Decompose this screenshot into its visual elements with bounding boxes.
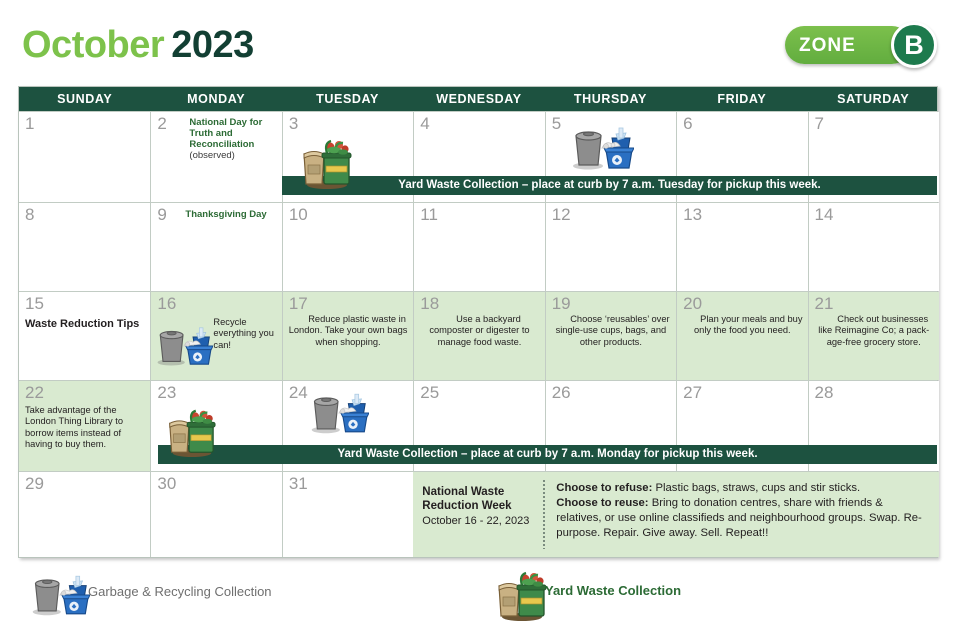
day-cell[interactable]: 18 Use a backyard composter or digester … [413,292,544,380]
weekday-monday: MONDAY [150,87,281,111]
day-number: 4 [420,114,429,134]
day-cell[interactable]: 19 Choose ‘reusables’ over single-use cu… [545,292,676,380]
weekday-thursday: THURSDAY [545,87,676,111]
day-cell[interactable]: 12 [545,203,676,291]
day-number: 11 [420,205,438,225]
day-cell[interactable]: 13 [676,203,807,291]
nwrw-dates: October 16 - 22, 2023 [422,514,537,529]
tip-text: Recycle everything you can! [213,317,277,351]
legend-item-garbage [28,568,90,627]
title-month: October [22,24,164,66]
day-number: 26 [552,383,571,403]
day-number: 27 [683,383,702,403]
day-number: 12 [552,205,571,225]
nwrw-body: Choose to refuse: Plastic bags, straws, … [551,472,939,557]
weekday-header-row: SUNDAY MONDAY TUESDAY WEDNESDAY THURSDAY… [19,87,937,111]
day-number: 14 [815,205,834,225]
day-cell[interactable]: 31 [282,472,413,557]
day-number: 28 [815,383,834,403]
tip-text: Check out businesses like Reimagine Co; … [813,314,935,348]
day-number: 5 [552,114,561,134]
zone-circle: B [891,22,937,68]
day-number: 6 [683,114,692,134]
day-number: 13 [683,205,702,225]
day-number: 22 [25,383,44,403]
zone-letter: B [894,25,934,65]
day-number: 16 [157,294,176,314]
day-number: 10 [289,205,308,225]
day-cell[interactable]: 9 Thanksgiving Day [150,203,281,291]
title-year: 2023 [171,24,254,66]
day-number: 23 [157,383,176,403]
tip-text: Plan your meals and buy only the food yo… [681,314,803,337]
calendar-grid: SUNDAY MONDAY TUESDAY WEDNESDAY THURSDAY… [18,86,938,558]
day-cell[interactable]: 16 Recycle everythi [150,292,281,380]
day-number: 9 [157,205,166,225]
day-number: 19 [552,294,571,314]
weekday-tuesday: TUESDAY [282,87,413,111]
yard-waste-icon [297,134,353,195]
day-cell[interactable]: 1 [19,112,150,202]
zone-label: ZONE [799,35,856,57]
nwrw-refuse-label: Choose to refuse: [556,482,652,494]
day-cell[interactable]: 30 [150,472,281,557]
tip-text: Choose ‘reusables’ over single-use cups,… [550,314,672,348]
garbage-recycling-icon [307,386,369,445]
weekday-friday: FRIDAY [676,87,807,111]
holiday-text: National Day for Truth and Reconciliatio… [189,117,262,150]
garbage-recycling-icon [153,320,213,377]
day-number: 20 [683,294,702,314]
national-waste-reduction-week-block: National Waste Reduction Week October 16… [413,472,939,557]
week-row: 29 30 31 National Waste Reduction Week O… [19,471,937,557]
garbage-recycling-icon [28,609,90,626]
zone-badge: ZONE B [785,22,937,68]
day-number: 7 [815,114,824,134]
day-number: 31 [289,474,308,494]
day-cell[interactable]: 29 [19,472,150,557]
day-number: 15 [25,294,44,314]
legend-item-yard [492,566,548,627]
yard-waste-icon [492,609,548,626]
week-row: 15 Waste Reduction Tips 16 [19,291,937,380]
nwrw-reuse-label: Choose to reuse: [556,497,648,509]
nwrw-title: National Waste Reduction Week [422,486,537,513]
week-row: 8 9 Thanksgiving Day 10 11 12 13 14 [19,202,937,291]
day-cell[interactable]: 20 Plan your meals and buy only the food… [676,292,807,380]
holiday-label: National Day for Truth and Reconciliatio… [189,117,278,161]
day-cell[interactable]: 15 Waste Reduction Tips [19,292,150,380]
weekday-sunday: SUNDAY [19,87,150,111]
page-title: October2023 [22,24,254,67]
weekday-wednesday: WEDNESDAY [413,87,544,111]
day-number: 17 [289,294,308,314]
day-cell[interactable]: 22 Take advantage of the London Thing Li… [19,381,150,471]
day-number: 24 [289,383,308,403]
day-number: 18 [420,294,439,314]
nwrw-divider [543,480,545,549]
week-row: 1 2 National Day for Truth and Reconcili… [19,111,937,202]
day-number: 2 [157,114,166,134]
day-cell[interactable]: 17 Reduce plastic waste in London. Take … [282,292,413,380]
day-number: 3 [289,114,298,134]
weekday-saturday: SATURDAY [808,87,939,111]
day-number: 1 [25,114,34,134]
page-header: October2023 ZONE B [0,0,955,88]
tip-text: Use a backyard composter or digester to … [418,314,540,348]
day-number: 30 [157,474,176,494]
day-number: 8 [25,205,34,225]
day-number: 29 [25,474,44,494]
day-number: 25 [420,383,439,403]
tip-text: Reduce plastic waste in London. Take you… [287,314,409,348]
yard-waste-banner: Yard Waste Collection – place at curb by… [158,445,937,464]
legend-footer: Garbage & Recycling Collection Yard Wast… [0,566,955,624]
garbage-recycling-icon [568,120,634,181]
holiday-label: Thanksgiving Day [185,209,278,220]
day-number: 21 [815,294,834,314]
tip-text: Take advantage of the London Thing Libra… [25,405,145,450]
day-cell[interactable]: 21 Check out businesses like Reimagine C… [808,292,939,380]
day-cell[interactable]: 10 [282,203,413,291]
nwrw-line-reuse: Choose to reuse: Bring to donation centr… [556,496,931,541]
yard-waste-icon [163,403,217,464]
day-cell[interactable]: 8 [19,203,150,291]
day-cell[interactable]: 2 National Day for Truth and Reconciliat… [150,112,281,202]
holiday-note: (observed) [189,150,278,161]
legend-label-garbage: Garbage & Recycling Collection [88,584,272,599]
day-cell[interactable]: 11 [413,203,544,291]
day-cell[interactable]: 14 [808,203,939,291]
week-row: 22 Take advantage of the London Thing Li… [19,380,937,471]
waste-reduction-tips-label: Waste Reduction Tips [25,318,146,330]
nwrw-refuse-text: Plastic bags, straws, cups and stir stic… [652,482,860,494]
nwrw-line-refuse: Choose to refuse: Plastic bags, straws, … [556,481,931,496]
legend-label-yard: Yard Waste Collection [545,583,681,598]
nwrw-left: National Waste Reduction Week October 16… [413,472,543,557]
